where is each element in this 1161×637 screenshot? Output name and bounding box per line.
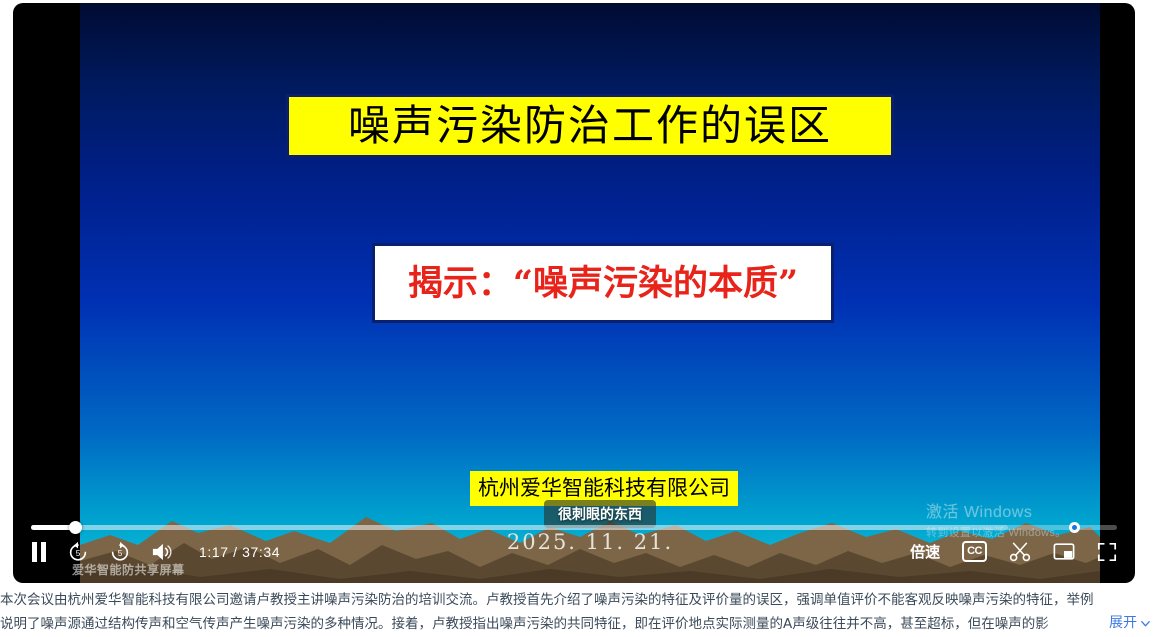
anti-share-watermark: 爱华智能防共享屏幕 <box>72 561 185 578</box>
slide-company-name: 杭州爱华智能科技有限公司 <box>478 478 730 499</box>
description-fade <box>1037 612 1097 636</box>
replay-5-icon: 5 <box>67 541 89 563</box>
video-description: 本次会议由杭州爱华智能科技有限公司邀请卢教授主讲噪声污染防治的培训交流。卢教授首… <box>0 588 1161 637</box>
description-line-1: 本次会议由杭州爱华智能科技有限公司邀请卢教授主讲噪声污染防治的培训交流。卢教授首… <box>0 588 1161 612</box>
forward-5s-button[interactable]: 5 <box>109 541 131 563</box>
scissors-icon <box>1009 542 1031 562</box>
slide-subtitle-box: 揭示：“噪声污染的本质” <box>372 243 834 323</box>
closed-captions-button[interactable]: CC <box>962 541 987 562</box>
progress-handle[interactable] <box>69 521 82 534</box>
progress-bar[interactable] <box>31 525 1117 530</box>
progress-chapter-marker[interactable] <box>1069 522 1080 533</box>
slide-subtitle: 揭示：“噪声污染的本质” <box>408 266 798 301</box>
chevron-down-icon <box>1140 618 1151 629</box>
rewind-5s-button[interactable]: 5 <box>67 541 89 563</box>
pause-icon <box>31 542 47 562</box>
expand-description-button[interactable]: 展开 <box>1109 612 1151 635</box>
slide-title: 噪声污染防治工作的误区 <box>348 105 832 147</box>
volume-icon <box>151 542 173 562</box>
forward-5-icon: 5 <box>109 541 131 563</box>
windows-activation-title: 激活 Windows <box>926 498 1100 522</box>
playback-speed-button[interactable]: 倍速 <box>910 541 940 562</box>
video-player[interactable]: 噪声污染防治工作的误区 揭示：“噪声污染的本质” 杭州爱华智能科技有限公司 很刺… <box>13 3 1135 583</box>
svg-text:5: 5 <box>118 549 123 558</box>
picture-in-picture-button[interactable] <box>1053 542 1075 561</box>
controls-right-group: 倍速 CC <box>910 541 1117 562</box>
clip-button[interactable] <box>1009 542 1031 562</box>
expand-label: 展开 <box>1109 612 1137 635</box>
video-page: 噪声污染防治工作的误区 揭示：“噪声污染的本质” 杭州爱华智能科技有限公司 很刺… <box>0 0 1161 637</box>
time-display: 1:17 / 37:34 <box>199 544 280 560</box>
video-surface[interactable]: 噪声污染防治工作的误区 揭示：“噪声污染的本质” 杭州爱华智能科技有限公司 很刺… <box>80 3 1100 583</box>
controls-left-group: 5 5 1:17 / 3 <box>31 541 280 563</box>
slide-title-banner: 噪声污染防治工作的误区 <box>286 94 894 158</box>
volume-button[interactable] <box>151 542 173 562</box>
fullscreen-icon <box>1097 542 1117 562</box>
svg-text:5: 5 <box>76 549 81 558</box>
picture-in-picture-icon <box>1053 542 1075 561</box>
description-line-2: 说明了噪声源通过结构传声和空气传声产生噪声污染的多种情况。接着，卢教授指出噪声污… <box>0 616 1049 632</box>
fullscreen-button[interactable] <box>1097 542 1117 562</box>
progress-buffered <box>31 525 1008 530</box>
play-pause-button[interactable] <box>31 542 47 562</box>
